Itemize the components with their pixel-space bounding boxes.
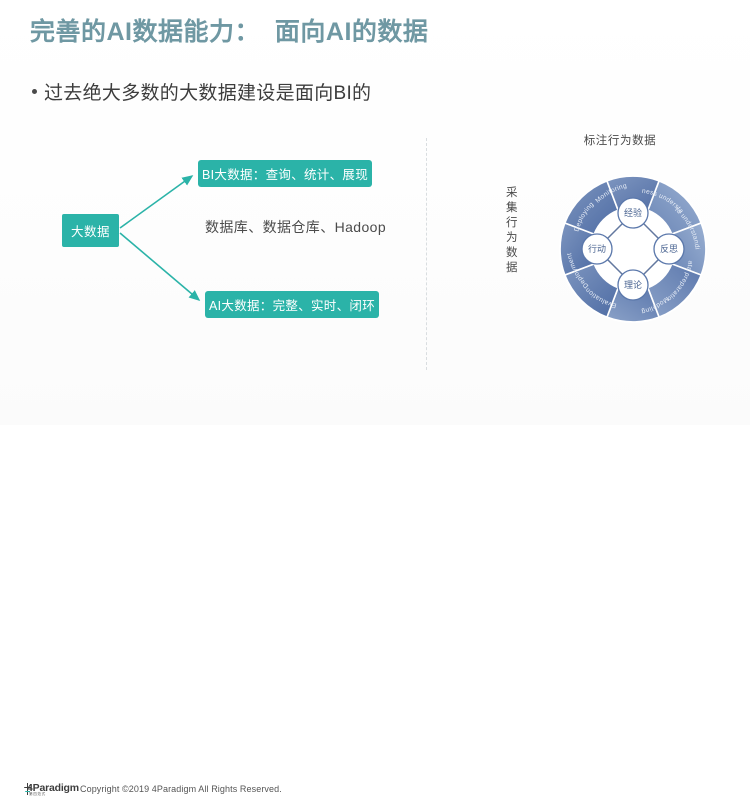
node-big-data[interactable]: 大数据: [62, 214, 119, 247]
node-ai-big-data[interactable]: AI大数据：完整、实时、闭环: [205, 291, 379, 318]
inner-node-theory: 理论: [624, 279, 642, 290]
arrow-to-bi: [120, 176, 192, 228]
crisp-dm-wheel: Business understanding Data understandin…: [542, 158, 724, 340]
footer: 4Paradigm 第四范式 Copyright ©2019 4Paradigm…: [0, 383, 750, 425]
label-collect-behavior-data: 采集行为数据: [504, 186, 520, 276]
branch-arrows: [0, 0, 420, 380]
inner-node-experience: 经验: [624, 207, 642, 218]
node-bi-big-data[interactable]: BI大数据：查询、统计、展现: [198, 160, 372, 187]
slide-canvas: 完善的AI数据能力： 面向AI的数据 过去绝大多数的大数据建设是面向BI的 大数…: [0, 0, 750, 425]
label-annotation-behavior-data: 标注行为数据: [490, 132, 750, 148]
inner-node-reflection: 反思: [660, 244, 678, 254]
copyright-text: Copyright ©2019 4Paradigm All Rights Res…: [80, 784, 282, 794]
vertical-divider: [426, 138, 427, 370]
middle-tech-text: 数据库、数据仓库、Hadoop: [205, 217, 386, 237]
logo-subtext: 第四范式: [29, 792, 46, 797]
arrow-to-ai: [120, 233, 199, 300]
inner-node-action: 行动: [588, 243, 606, 254]
right-diagram: 标注行为数据 采集行为数据: [490, 128, 750, 368]
